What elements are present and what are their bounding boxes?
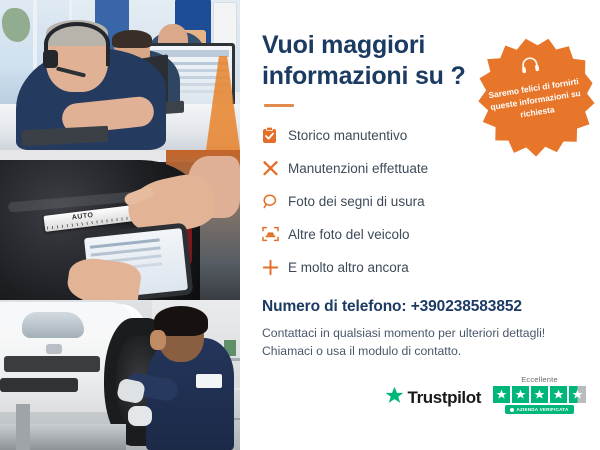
list-item-label: Altre foto del veicolo (288, 227, 410, 242)
scan-car-icon (262, 226, 288, 242)
magnifier-icon (262, 193, 288, 210)
car-grille-upper (4, 356, 100, 372)
list-item-label: Storico manutentivo (288, 128, 407, 143)
car-emblem (46, 344, 62, 354)
star-filled (550, 386, 567, 403)
plus-icon (262, 259, 288, 276)
trustpilot-widget[interactable]: Trustpilot Eccellente (262, 375, 586, 414)
car-grille-lower (0, 378, 78, 392)
star-filled (493, 386, 510, 403)
contact-description-line-2: Chiamaci o usa il modulo di contatto. (262, 342, 578, 360)
list-item: Altre foto del veicolo (262, 220, 578, 248)
headset-icon (519, 55, 542, 81)
verified-check-icon (510, 408, 514, 412)
agent-headset-earcup (43, 50, 58, 68)
mechanic-glove-lower (128, 406, 152, 426)
outdoor-plant (2, 8, 30, 42)
clipboard-check-icon (262, 127, 288, 144)
phone-number[interactable]: Numero di telefono: +390238583852 (262, 298, 578, 316)
trustpilot-rating: Eccellente (493, 375, 586, 414)
star-filled (512, 386, 529, 403)
promo-banner: Vuoi maggiori informazioni su ? Storico … (0, 0, 600, 450)
contact-description: Contattaci in qualsiasi momento per ulte… (262, 324, 578, 361)
star-filled (531, 386, 548, 403)
vehicle-inspection-photo (0, 150, 240, 300)
list-item-label: E molto altro ancora (288, 260, 409, 275)
list-item-label: Foto dei segni di usura (288, 194, 425, 209)
photo-column (0, 0, 240, 450)
contact-description-line-1: Contattaci in qualsiasi momento per ulte… (262, 324, 578, 342)
wrench-tools-icon (262, 160, 288, 177)
uniform-logo-patch (196, 374, 222, 388)
trustpilot-logo: Trustpilot (385, 386, 481, 414)
star-half (569, 386, 586, 403)
title-divider (264, 104, 294, 107)
trustpilot-wordmark: Trustpilot (408, 388, 481, 408)
trustpilot-star-icon (385, 386, 404, 410)
call-center-photo (0, 0, 240, 150)
verified-label: AZIENDA VERIFICATA (516, 407, 568, 412)
list-item-label: Manutenzioni effettuate (288, 161, 428, 176)
second-agent-hair (112, 30, 152, 48)
car-headlight (22, 312, 84, 338)
verified-company-badge: AZIENDA VERIFICATA (505, 405, 573, 414)
wall-notice (213, 2, 237, 48)
vehicle-lift-post (16, 404, 30, 450)
tire-service-photo (0, 300, 240, 450)
rating-stars (493, 386, 586, 403)
badge-text: Saremo felici di fornirti queste informa… (485, 75, 586, 126)
list-item: Manutenzioni effettuate (262, 154, 578, 182)
list-item: Foto dei segni di usura (262, 187, 578, 215)
promo-badge: Saremo felici di fornirti queste informa… (467, 29, 600, 164)
content-panel: Vuoi maggiori informazioni su ? Storico … (240, 0, 600, 450)
mechanic-face (150, 330, 166, 350)
rating-label: Eccellente (521, 375, 558, 384)
badge-content: Saremo felici di fornirti queste informa… (467, 29, 600, 164)
list-item: E molto altro ancora (262, 253, 578, 281)
